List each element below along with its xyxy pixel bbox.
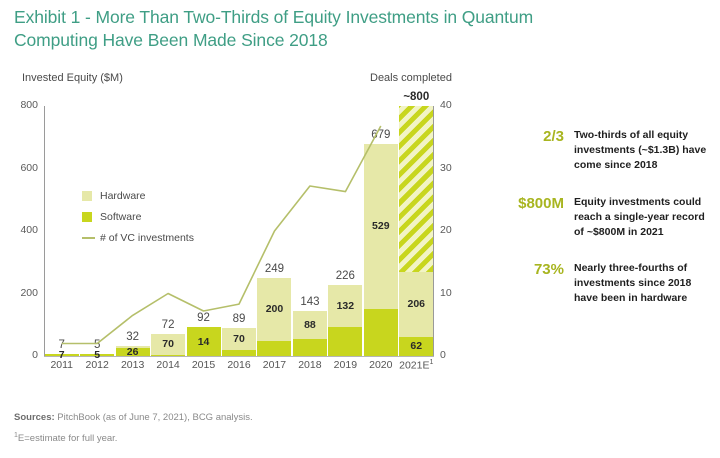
legend-swatch-icon: [82, 191, 92, 201]
x-axis-labels: 2011201220132014201520162017201820192020…: [44, 359, 434, 379]
right-tick-40: 40: [440, 99, 470, 111]
callout-list: 2/3Two-thirds of all equity investments …: [498, 128, 713, 328]
legend-item-hardware[interactable]: Hardware: [82, 190, 194, 202]
left-tick-600: 600: [4, 162, 38, 174]
sources-line: Sources: PitchBook (as of June 7, 2021),…: [14, 412, 494, 423]
callout-2: $800MEquity investments could reach a si…: [498, 195, 713, 240]
sources-label: Sources:: [14, 412, 55, 423]
legend-line-marker: [82, 237, 95, 239]
chart-container: Invested Equity ($M) Deals completed 020…: [0, 72, 495, 402]
legend-label: Software: [100, 211, 141, 223]
legend-label: # of VC investments: [100, 232, 194, 244]
title-line-2: Computing Have Been Made Since 2018: [14, 29, 674, 52]
callout-stat-3: 73%: [498, 261, 574, 306]
sources-text: PitchBook (as of June 7, 2021), BCG anal…: [55, 412, 253, 423]
callout-1: 2/3Two-thirds of all equity investments …: [498, 128, 713, 173]
callout-stat-2: $800M: [498, 195, 574, 240]
right-axis-title: Deals completed: [370, 72, 452, 84]
callout-text-1: Two-thirds of all equity investments (~$…: [574, 128, 713, 173]
callout-stat-1: 2/3: [498, 128, 574, 173]
title-line-1: Exhibit 1 - More Than Two-Thirds of Equi…: [14, 7, 533, 27]
callout-text-2: Equity investments could reach a single-…: [574, 195, 713, 240]
x-label-2021E: 2021E1: [392, 359, 440, 372]
left-tick-200: 200: [4, 287, 38, 299]
right-tick-10: 10: [440, 287, 470, 299]
footer: Sources: PitchBook (as of June 7, 2021),…: [14, 412, 494, 444]
left-tick-0: 0: [4, 349, 38, 361]
footnote: 1E=estimate for full year.: [14, 432, 494, 444]
legend-item-software[interactable]: Software: [82, 211, 194, 223]
callout-text-3: Nearly three-fourths of investments sinc…: [574, 261, 713, 306]
callout-3: 73%Nearly three-fourths of investments s…: [498, 261, 713, 306]
right-tick-20: 20: [440, 224, 470, 236]
legend-swatch-icon: [82, 212, 92, 222]
left-tick-400: 400: [4, 224, 38, 236]
left-tick-800: 800: [4, 99, 38, 111]
legend-item-of-vc-investments[interactable]: # of VC investments: [82, 232, 194, 244]
exhibit-slide: Exhibit 1 - More Than Two-Thirds of Equi…: [0, 0, 720, 458]
left-axis-title: Invested Equity ($M): [22, 72, 123, 84]
total-label-2021E: ~800: [391, 91, 441, 103]
chart-legend: HardwareSoftware# of VC investments: [82, 190, 194, 253]
page-title: Exhibit 1 - More Than Two-Thirds of Equi…: [14, 6, 674, 53]
right-tick-30: 30: [440, 162, 470, 174]
legend-label: Hardware: [100, 190, 146, 202]
footnote-text: E=estimate for full year.: [18, 433, 118, 444]
right-tick-0: 0: [440, 349, 470, 361]
